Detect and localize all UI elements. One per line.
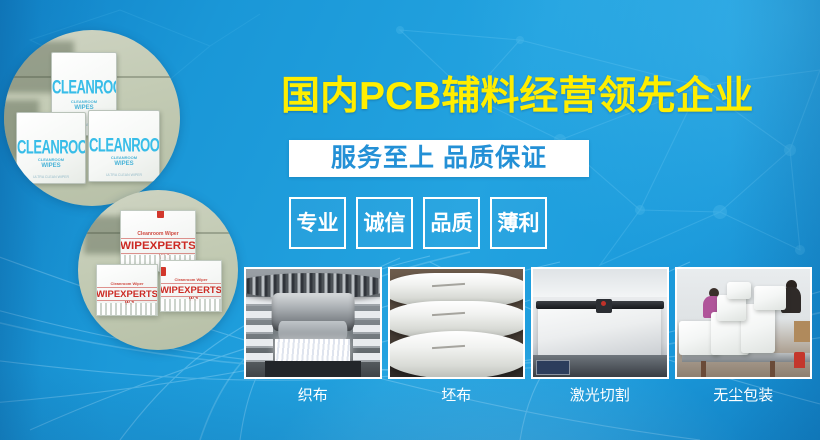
pack-footer-label: ULTRA CLEAN WIPER — [93, 173, 155, 177]
wipexperts-bale: Cleanroom Wiper WIPEXPERTS W-3 — [96, 264, 158, 316]
pack-brand-label: CLEANROOM — [89, 133, 159, 156]
pack-sub-label: CLEANROOM — [52, 99, 116, 104]
bale-top-label: Cleanroom Wiper — [97, 281, 157, 286]
bale-top-label: Cleanroom Wiper — [161, 277, 221, 282]
slogan-text: 服务至上 品质保证 — [331, 146, 547, 171]
bale-brand-label: WIPEXPERTS — [120, 240, 196, 252]
process-photo-greige-fabric — [388, 267, 526, 379]
process-photo-strip — [244, 267, 812, 379]
product-photo-wipexperts: Cleanroom Wiper WIPEXPERTS W-3 Cleanroom… — [78, 190, 238, 350]
bale-red-tab — [160, 267, 166, 276]
value-box-low-margin: 薄利 — [490, 197, 547, 249]
caption-greige-fabric: 坯布 — [388, 383, 526, 409]
process-photo-weaving — [244, 267, 382, 379]
pack-brand-label: CLEANROOM — [17, 135, 85, 158]
process-caption-row: 织布 坯布 激光切割 无尘包装 — [244, 383, 812, 409]
value-box-label: 专业 — [297, 213, 339, 234]
bale-brand-label: WIPEXPERTS — [96, 289, 158, 299]
banner-headline: 国内PCB辅料经营领先企业 — [281, 74, 753, 120]
pack-sub-label: CLEANROOM — [17, 157, 85, 162]
slogan-box: 服务至上 品质保证 — [289, 140, 589, 177]
caption-laser-cutting: 激光切割 — [531, 383, 669, 409]
process-photo-laser-cutting — [531, 267, 669, 379]
product-photo-cleanroom: CLEANROOM CLEANROOM WIPES ULTRA CLEAN WI… — [4, 30, 180, 206]
wipexperts-bale: Cleanroom Wiper WIPEXPERTS W-3 — [160, 260, 222, 312]
pack-brand-label: CLEANROOM — [52, 75, 116, 98]
value-box-label: 品质 — [431, 213, 473, 234]
cleanroom-pack: CLEANROOM CLEANROOM WIPES ULTRA CLEAN WI… — [88, 110, 160, 182]
pack-wipes-label: WIPES — [17, 163, 85, 169]
pack-sub-label: CLEANROOM — [89, 155, 159, 160]
value-box-integrity: 诚信 — [356, 197, 413, 249]
value-box-professional: 专业 — [289, 197, 346, 249]
value-box-label: 诚信 — [364, 213, 406, 234]
cleanroom-pack: CLEANROOM CLEANROOM WIPES ULTRA CLEAN WI… — [16, 112, 86, 184]
promotional-banner: CLEANROOM CLEANROOM WIPES ULTRA CLEAN WI… — [0, 0, 820, 440]
value-proposition-row: 专业 诚信 品质 薄利 — [289, 197, 547, 249]
process-photo-dustfree-packaging — [675, 267, 813, 379]
caption-weaving: 织布 — [244, 383, 382, 409]
caption-dustfree-packaging: 无尘包装 — [675, 383, 813, 409]
bale-brand-label: WIPEXPERTS — [160, 285, 222, 295]
pack-wipes-label: WIPES — [89, 161, 159, 167]
bale-red-tab — [157, 210, 164, 218]
bale-top-label: Cleanroom Wiper — [121, 231, 195, 237]
pack-footer-label: ULTRA CLEAN WIPER — [21, 175, 81, 179]
value-box-quality: 品质 — [423, 197, 480, 249]
value-box-label: 薄利 — [498, 213, 540, 234]
